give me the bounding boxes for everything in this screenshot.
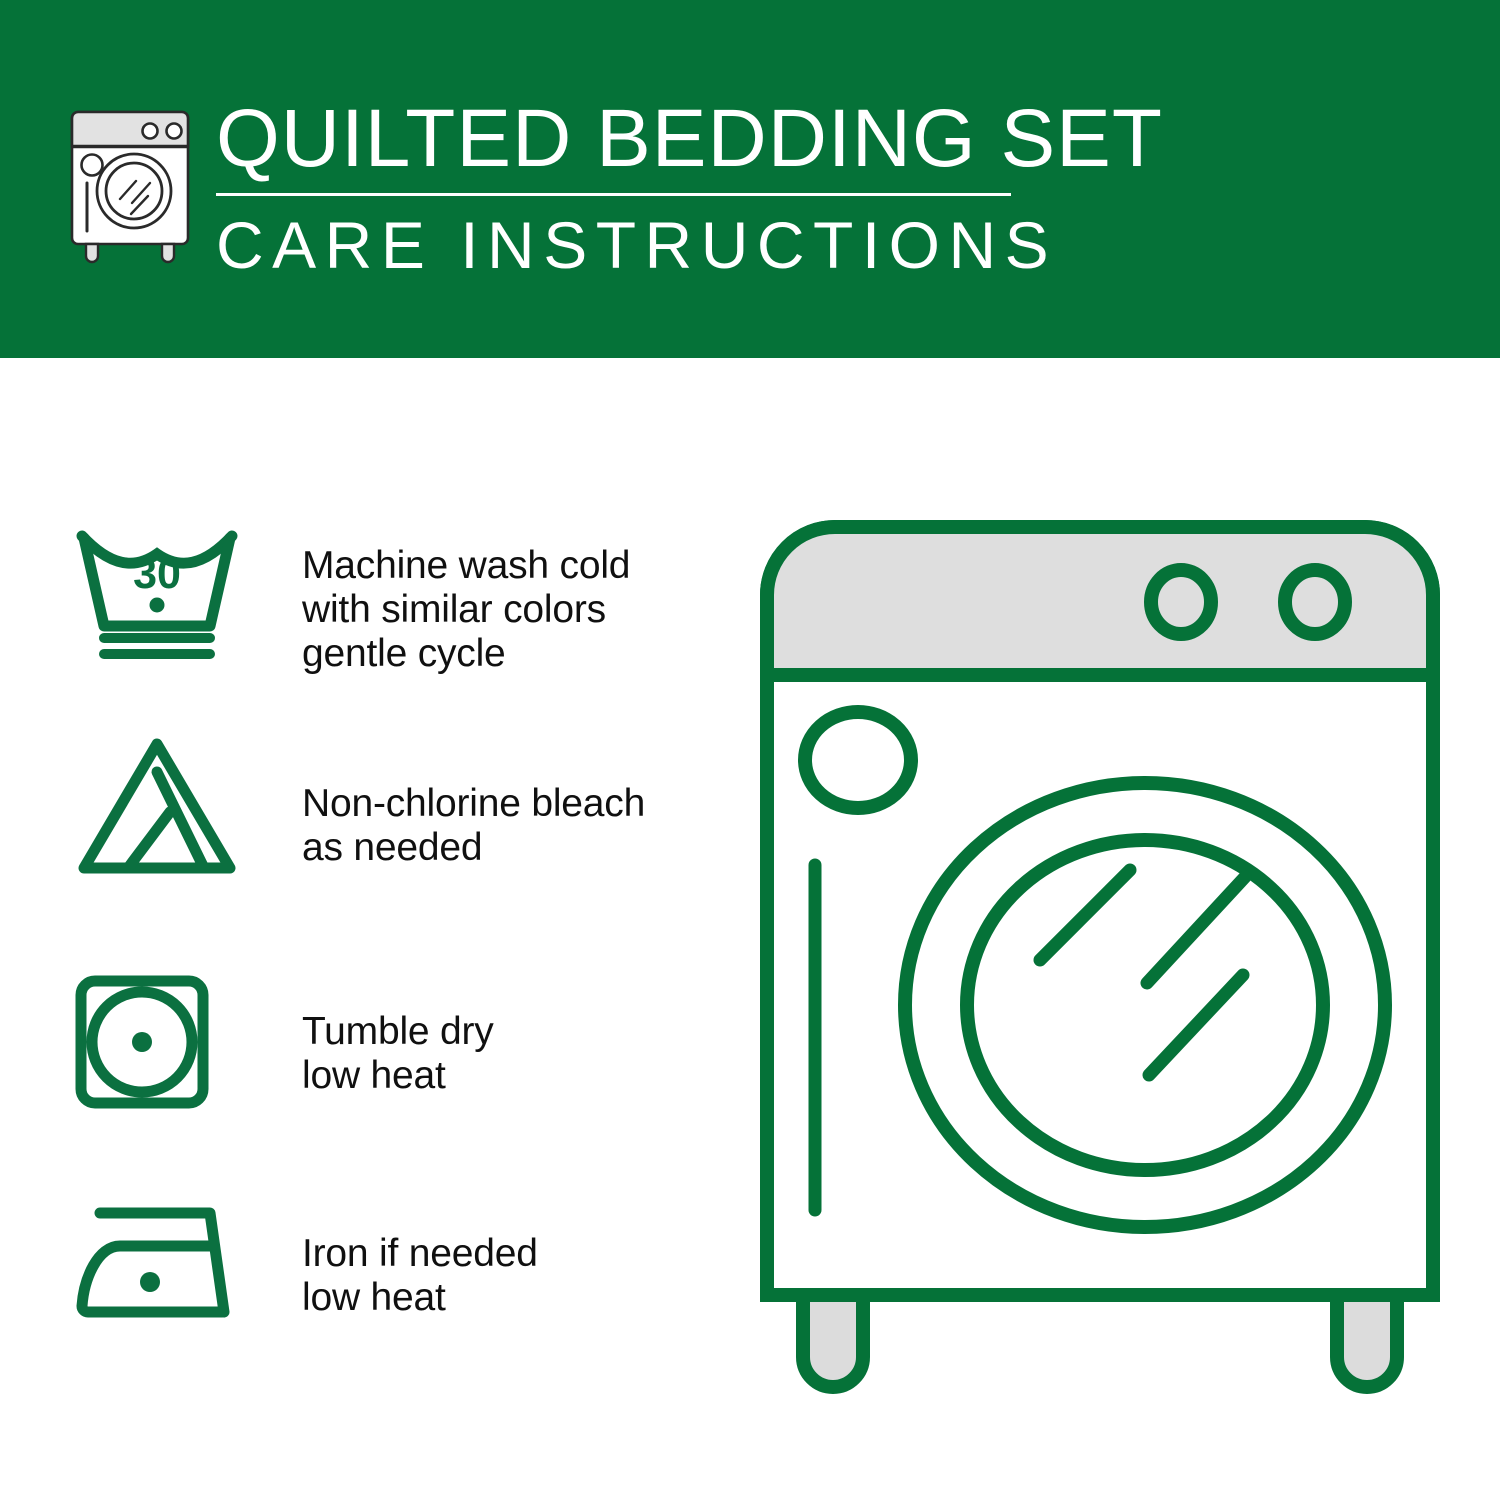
machine-knob (1151, 570, 1211, 634)
wash-basin-30-gentle-icon: 30 (72, 522, 242, 667)
machine-door-inner (967, 840, 1323, 1170)
header-titles: QUILTED BEDDING SET CARE INSTRUCTIONS (216, 96, 1016, 280)
washing-machine-icon (62, 104, 198, 264)
care-item-machine-wash-text: Machine wash cold with similar colors ge… (302, 544, 630, 676)
care-item-tumble-dry: Tumble dry low heat (0, 972, 720, 1127)
care-text-line: with similar colors (302, 588, 630, 632)
page-title: QUILTED BEDDING SET (216, 96, 1016, 182)
machine-knob (1285, 570, 1345, 634)
bleach-triangle-non-chlorine-icon (72, 732, 242, 882)
care-text-line: as needed (302, 826, 645, 870)
care-text-line: low heat (302, 1276, 538, 1320)
care-item-bleach: Non-chlorine bleach as needed (0, 732, 720, 892)
title-divider (216, 193, 1011, 196)
front-load-washing-machine-illustration (745, 505, 1455, 1415)
tumble-dry-low-heat-icon (72, 972, 212, 1117)
machine-dispenser (805, 712, 911, 808)
care-item-iron-text: Iron if needed low heat (302, 1232, 538, 1320)
care-item-machine-wash: 30 Machine wash cold with similar colors… (0, 522, 720, 692)
care-text-line: Machine wash cold (302, 544, 630, 588)
machine-leg (1337, 1295, 1397, 1387)
care-instructions-page: QUILTED BEDDING SET CARE INSTRUCTIONS 30 (0, 0, 1500, 1500)
care-text-line: low heat (302, 1054, 494, 1098)
iron-low-heat-icon (72, 1200, 242, 1330)
care-text-line: Non-chlorine bleach (302, 782, 645, 826)
machine-leg (803, 1295, 863, 1387)
care-item-iron: Iron if needed low heat (0, 1200, 720, 1340)
wash-temperature-label: 30 (133, 550, 181, 598)
header-band: QUILTED BEDDING SET CARE INSTRUCTIONS (0, 0, 1500, 358)
care-item-tumble-dry-text: Tumble dry low heat (302, 1010, 494, 1098)
care-text-line: gentle cycle (302, 632, 630, 676)
care-text-line: Iron if needed (302, 1232, 538, 1276)
care-item-bleach-text: Non-chlorine bleach as needed (302, 782, 645, 870)
care-text-line: Tumble dry (302, 1010, 494, 1054)
care-instructions-list: 30 Machine wash cold with similar colors… (0, 500, 720, 1380)
page-subtitle: CARE INSTRUCTIONS (216, 210, 1016, 280)
